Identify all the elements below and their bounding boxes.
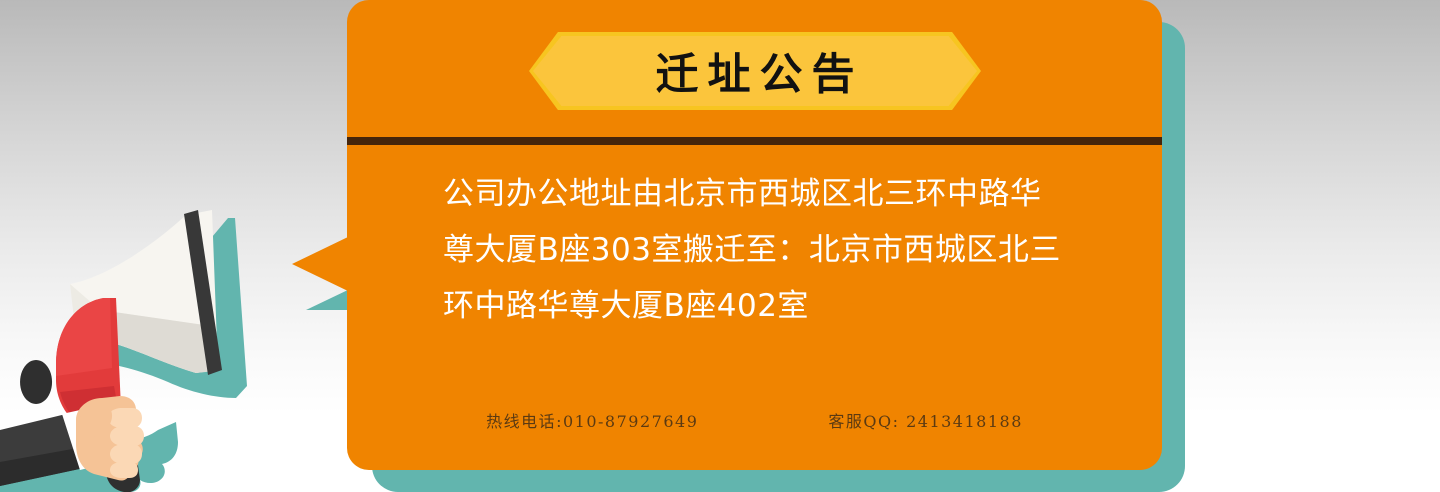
contact-footer: 热线电话:010-87927649 客服QQ: 2413418188 — [347, 408, 1162, 436]
body-line-3: 环中路华尊大厦B座402室 — [443, 278, 1093, 334]
title-banner: 迁址公告 — [529, 32, 981, 110]
megaphone-base-highlight — [56, 298, 112, 376]
finger-3 — [110, 444, 142, 464]
finger-1 — [108, 408, 142, 428]
hand-holding-megaphone-icon — [0, 186, 310, 492]
divider — [347, 137, 1162, 145]
finger-4 — [110, 462, 138, 478]
finger-2 — [110, 426, 144, 446]
body-line-2: 尊大厦B座303室搬迁至：北京市西城区北三 — [443, 222, 1093, 278]
qq-text: 客服QQ: 2413418188 — [828, 408, 1023, 436]
announcement-body: 公司办公地址由北京市西城区北三环中路华 尊大厦B座303室搬迁至：北京市西城区北… — [443, 166, 1093, 334]
hotline-text: 热线电话:010-87927649 — [486, 408, 698, 436]
body-line-1: 公司办公地址由北京市西城区北三环中路华 — [443, 166, 1093, 222]
announcement-banner-image: 迁址公告 公司办公地址由北京市西城区北三环中路华 尊大厦B座303室搬迁至：北京… — [0, 0, 1440, 492]
megaphone-knob — [20, 360, 52, 404]
page-title: 迁址公告 — [529, 32, 981, 110]
